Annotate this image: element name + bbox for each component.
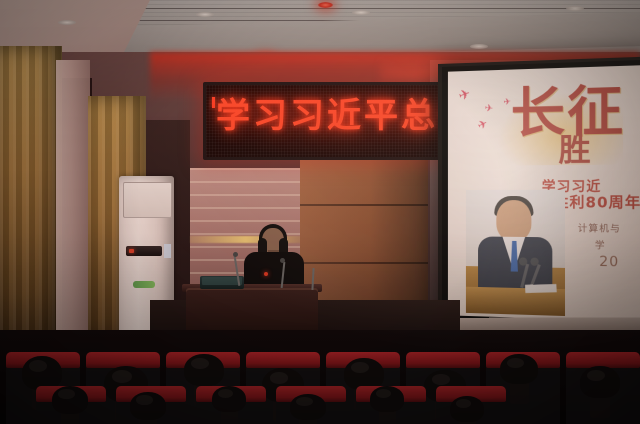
led-banner-screen: 学习习近平总书 xyxy=(206,85,468,157)
air-conditioner-grille xyxy=(123,182,172,218)
audience-person-hair-highlight xyxy=(136,395,152,405)
audience-seat-headrest xyxy=(246,352,320,368)
microphone-indicator-led-icon xyxy=(264,272,268,276)
microphone-head-icon xyxy=(280,258,285,263)
audience-person-hair-highlight xyxy=(351,362,369,373)
lecture-hall-photo: 学习习近平总书 ✈ ✈ ✈ ✈ 长征 胜 学习习近 在“长征胜利80周年 xyxy=(0,0,640,424)
audience-person-hair-highlight xyxy=(58,389,74,399)
led-banner-display: 学习习近平总书 xyxy=(203,82,471,160)
audience-person-hair-highlight xyxy=(270,372,289,384)
audience-person-hair-highlight xyxy=(507,358,524,369)
projection-screen: ✈ ✈ ✈ ✈ 长征 胜 学习习近 在“长征胜利80周年 xyxy=(448,65,640,322)
air-conditioner-label-sticker xyxy=(164,244,171,258)
ceiling-downlight-icon xyxy=(470,44,488,49)
ceiling-red-light-icon xyxy=(318,2,333,8)
air-conditioner-power-led-icon xyxy=(129,249,134,253)
projection-screen-frame: ✈ ✈ ✈ ✈ 长征 胜 学习习近 在“长征胜利80周年 xyxy=(438,56,640,332)
microphone-head-icon xyxy=(233,252,238,257)
gold-curtain-left xyxy=(0,46,62,356)
air-conditioner-green-decal xyxy=(133,281,155,288)
ceiling-downlight-icon xyxy=(58,20,76,25)
audience-person-hair-highlight xyxy=(191,358,209,369)
led-banner-text: 学习习近平总书 xyxy=(216,94,468,138)
screen-light-vignette xyxy=(448,65,640,322)
audience-person-hair-highlight xyxy=(587,370,605,381)
wall-pillar xyxy=(56,60,90,360)
ceiling-downlight-icon xyxy=(196,12,214,17)
laptop-screen xyxy=(202,277,242,285)
ceiling-downlight-icon xyxy=(566,6,584,11)
audience-person-hair-highlight xyxy=(296,397,312,406)
audience-person-hair-highlight xyxy=(112,370,132,383)
audience-person-hair-highlight xyxy=(29,360,47,372)
audience-seat-headrest xyxy=(406,352,480,368)
ceiling-downlight-icon xyxy=(352,10,370,15)
led-edge-marker xyxy=(212,97,215,108)
